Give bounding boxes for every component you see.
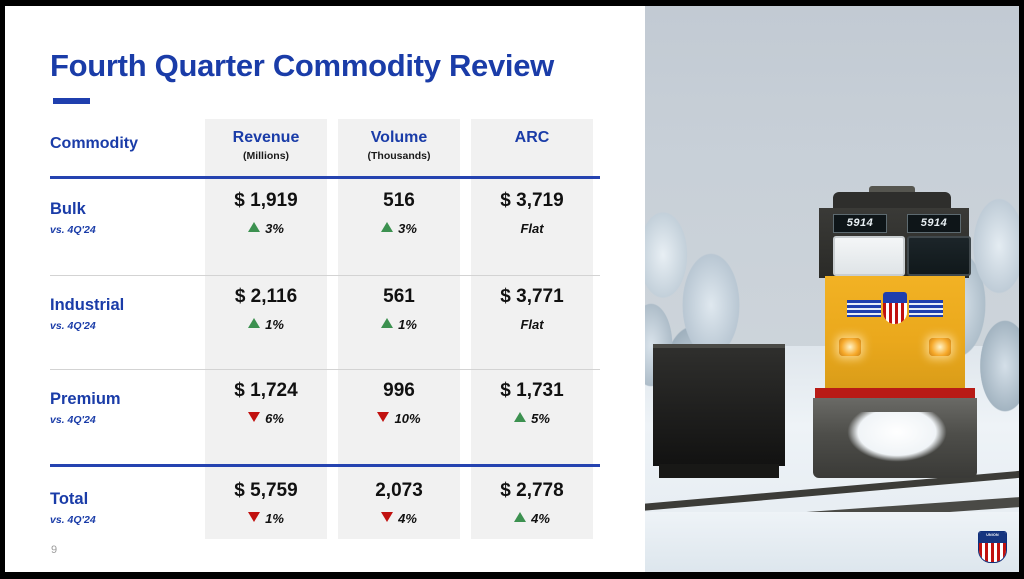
emblem-wing-left	[847, 300, 881, 317]
header-commodity: Commodity	[50, 119, 200, 153]
cell-premium-volume: 996 10%	[338, 381, 460, 425]
page-title: Fourth Quarter Commodity Review	[50, 48, 554, 84]
delta-total-revenue: 1%	[205, 512, 327, 525]
title-underline-accent	[53, 98, 90, 104]
delta-bulk-revenue: 3%	[205, 222, 327, 235]
triangle-up-icon	[514, 512, 526, 522]
headlight-left	[839, 338, 861, 356]
header-arc: ARC	[471, 119, 593, 151]
row-divider-2	[50, 369, 600, 370]
slide-canvas: Fourth Quarter Commodity Review Commodit…	[5, 6, 1019, 572]
triangle-down-icon	[248, 512, 260, 522]
union-pacific-logo: UNION	[978, 531, 1005, 561]
locomotive-cab: 5914 5914	[819, 208, 969, 278]
locomotive-body	[825, 276, 965, 394]
freight-hopper-car	[653, 344, 785, 466]
triangle-down-icon	[381, 512, 393, 522]
page-number: 9	[51, 544, 57, 556]
delta-premium-revenue: 6%	[205, 412, 327, 425]
cell-total-revenue: $ 5,759 1%	[205, 481, 327, 525]
delta-total-arc: 4%	[471, 512, 593, 525]
total-rule	[50, 464, 600, 467]
slide-frame: Fourth Quarter Commodity Review Commodit…	[0, 0, 1024, 579]
header-volume: Volume (Thousands)	[338, 119, 460, 162]
up-shield-stripes	[979, 543, 1006, 562]
locomotive-pilot	[813, 398, 977, 478]
triangle-up-icon	[514, 412, 526, 422]
content-panel: Fourth Quarter Commodity Review Commodit…	[5, 6, 645, 572]
triangle-down-icon	[377, 412, 389, 422]
union-pacific-winged-emblem	[847, 292, 943, 326]
cell-total-arc: $ 2,778 4%	[471, 481, 593, 525]
locomotive: 5914 5914	[797, 192, 993, 492]
delta-bulk-volume: 3%	[338, 222, 460, 235]
cell-premium-revenue: $ 1,724 6%	[205, 381, 327, 425]
delta-premium-volume: 10%	[338, 412, 460, 425]
up-shield-wordmark: UNION	[979, 532, 1006, 543]
delta-industrial-arc: Flat	[471, 318, 593, 331]
row-divider-1	[50, 275, 600, 276]
triangle-up-icon	[381, 318, 393, 328]
row-label-total: Total vs. 4Q'24	[50, 481, 200, 525]
number-board-left: 5914	[833, 214, 887, 233]
table-header-row: Commodity Revenue (Millions) Volume (Tho…	[50, 119, 600, 181]
triangle-up-icon	[248, 318, 260, 328]
number-board-right: 5914	[907, 214, 961, 233]
cell-industrial-arc: $ 3,771 Flat	[471, 287, 593, 331]
cell-bulk-revenue: $ 1,919 3%	[205, 191, 327, 235]
delta-premium-arc: 5%	[471, 412, 593, 425]
delta-bulk-arc: Flat	[471, 222, 593, 235]
delta-total-volume: 4%	[338, 512, 460, 525]
commodity-table: Commodity Revenue (Millions) Volume (Tho…	[50, 119, 600, 539]
header-rule	[50, 176, 600, 179]
cell-industrial-volume: 561 1%	[338, 287, 460, 331]
cell-bulk-volume: 516 3%	[338, 191, 460, 235]
row-label-industrial: Industrial vs. 4Q'24	[50, 287, 200, 331]
pilot-snow-pack	[847, 412, 947, 462]
cell-bulk-arc: $ 3,719 Flat	[471, 191, 593, 235]
emblem-shield-icon	[883, 292, 907, 324]
triangle-down-icon	[248, 412, 260, 422]
locomotive-photo: 5914 5914	[645, 6, 1019, 572]
cell-industrial-revenue: $ 2,116 1%	[205, 287, 327, 331]
delta-industrial-volume: 1%	[338, 318, 460, 331]
cell-total-volume: 2,073 4%	[338, 481, 460, 525]
up-shield-icon: UNION	[978, 531, 1007, 563]
row-label-premium: Premium vs. 4Q'24	[50, 381, 200, 425]
headlight-right	[929, 338, 951, 356]
triangle-up-icon	[381, 222, 393, 232]
header-revenue: Revenue (Millions)	[205, 119, 327, 162]
triangle-up-icon	[248, 222, 260, 232]
emblem-wing-right	[909, 300, 943, 317]
cell-premium-arc: $ 1,731 5%	[471, 381, 593, 425]
windshield-left	[833, 236, 905, 276]
snow-foreground	[645, 512, 1019, 572]
delta-industrial-revenue: 1%	[205, 318, 327, 331]
windshield-right	[907, 236, 971, 276]
row-label-bulk: Bulk vs. 4Q'24	[50, 191, 200, 235]
